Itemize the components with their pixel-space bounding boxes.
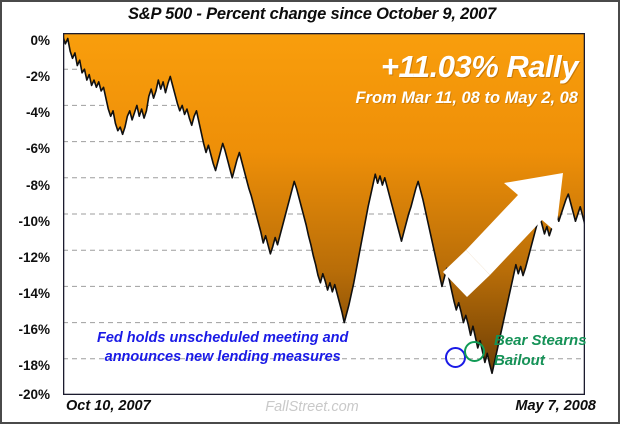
y-axis-tick-8: -16% <box>0 322 50 337</box>
marker-bear-stearns <box>464 341 485 362</box>
annotation-fed-line1: Fed holds unscheduled meeting and <box>97 329 348 348</box>
annotation-fed-line2: announces new lending measures <box>97 348 348 367</box>
annotation-bear-line2: Bailout <box>494 351 587 371</box>
rally-headline: +11.03% Rally <box>381 49 578 85</box>
rally-subline: From Mar 11, 08 to May 2, 08 <box>355 89 578 108</box>
y-axis-tick-7: -14% <box>0 286 50 301</box>
page-title: S&P 500 - Percent change since October 9… <box>2 5 620 24</box>
y-axis-tick-3: -6% <box>0 141 50 156</box>
y-axis-tick-0: 0% <box>0 33 50 48</box>
annotation-bear-stearns: Bear Stearns Bailout <box>494 331 587 371</box>
y-axis-tick-4: -8% <box>0 178 50 193</box>
y-axis-tick-5: -10% <box>0 214 50 229</box>
y-axis-tick-6: -12% <box>0 250 50 265</box>
x-axis-end-label: May 7, 2008 <box>515 398 596 414</box>
y-axis-tick-9: -18% <box>0 358 50 373</box>
y-axis-tick-2: -4% <box>0 105 50 120</box>
marker-fed-meeting <box>445 347 466 368</box>
annotation-fed: Fed holds unscheduled meeting and announ… <box>97 329 348 367</box>
annotation-bear-line1: Bear Stearns <box>494 331 587 351</box>
chart-screenshot: S&P 500 - Percent change since October 9… <box>0 0 620 424</box>
y-axis-tick-1: -2% <box>0 69 50 84</box>
